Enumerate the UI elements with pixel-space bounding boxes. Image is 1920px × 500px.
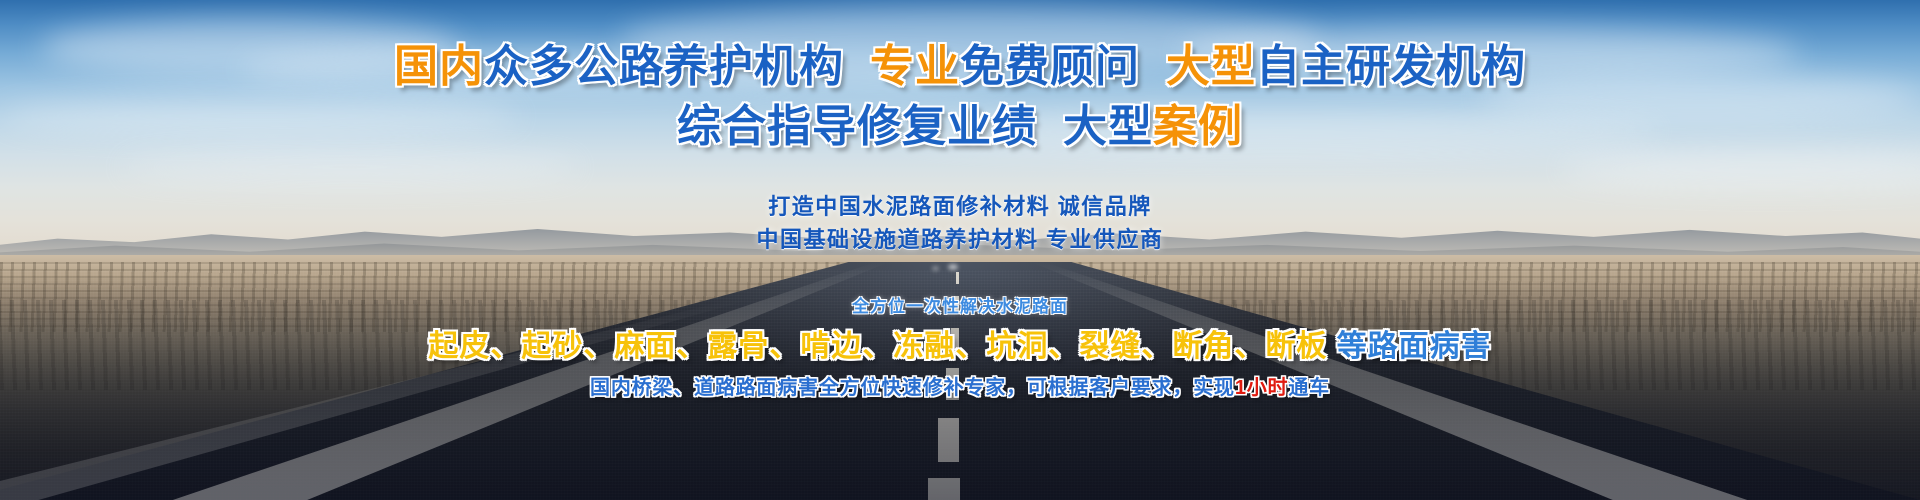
bottom-kicker: 全方位一次性解决水泥路面 bbox=[0, 292, 1920, 317]
headline-seg-guidance: 综合指导修复业绩 bbox=[677, 102, 1037, 151]
banner-content: 国内众多公路养护机构专业免费顾问大型自主研发机构 综合指导修复业绩大型案例 打造… bbox=[0, 0, 1920, 500]
defects-suffix: 等路面病害 bbox=[1327, 330, 1491, 363]
headline-line-2: 综合指导修复业绩大型案例 bbox=[0, 100, 1920, 154]
headline-block: 国内众多公路养护机构专业免费顾问大型自主研发机构 综合指导修复业绩大型案例 bbox=[0, 40, 1920, 153]
defects-list: 起皮、起砂、麻面、露骨、啃边、冻融、坑洞、裂缝、断角、断板 bbox=[428, 330, 1327, 363]
promo-banner: 国内众多公路养护机构专业免费顾问大型自主研发机构 综合指导修复业绩大型案例 打造… bbox=[0, 0, 1920, 500]
subheadline-line-2: 中国基础设施道路养护材料 专业供应商 bbox=[0, 223, 1920, 256]
headline-seg-cases: 案例 bbox=[1153, 102, 1243, 151]
headline-seg-large-scale: 大型 bbox=[1166, 42, 1256, 91]
headline-seg-rnd: 自主研发机构 bbox=[1256, 42, 1526, 91]
headline-seg-large: 大型 bbox=[1063, 102, 1153, 151]
bottom-defects-line: 起皮、起砂、麻面、露骨、啃边、冻融、坑洞、裂缝、断角、断板 等路面病害 bbox=[0, 321, 1920, 365]
headline-seg-agencies: 众多公路养护机构 bbox=[484, 42, 844, 91]
subheadline-block: 打造中国水泥路面修补材料 诚信品牌 中国基础设施道路养护材料 专业供应商 bbox=[0, 190, 1920, 257]
closing-text-main: 国内桥梁、道路路面病害全方位快速修补专家，可根据客户要求，实现 bbox=[590, 377, 1235, 399]
bottom-closing-line: 国内桥梁、道路路面病害全方位快速修补专家，可根据客户要求，实现1小时通车 bbox=[0, 371, 1920, 400]
headline-seg-professional: 专业 bbox=[870, 42, 960, 91]
headline-seg-domestic: 国内 bbox=[394, 42, 484, 91]
headline-line-1: 国内众多公路养护机构专业免费顾问大型自主研发机构 bbox=[0, 40, 1920, 94]
headline-seg-free-consult: 免费顾问 bbox=[960, 42, 1140, 91]
subheadline-line-1: 打造中国水泥路面修补材料 诚信品牌 bbox=[0, 190, 1920, 223]
closing-highlight-one-hour: 1小时 bbox=[1235, 377, 1289, 399]
bottom-block: 全方位一次性解决水泥路面 起皮、起砂、麻面、露骨、啃边、冻融、坑洞、裂缝、断角、… bbox=[0, 292, 1920, 400]
closing-text-tail: 通车 bbox=[1288, 377, 1330, 399]
